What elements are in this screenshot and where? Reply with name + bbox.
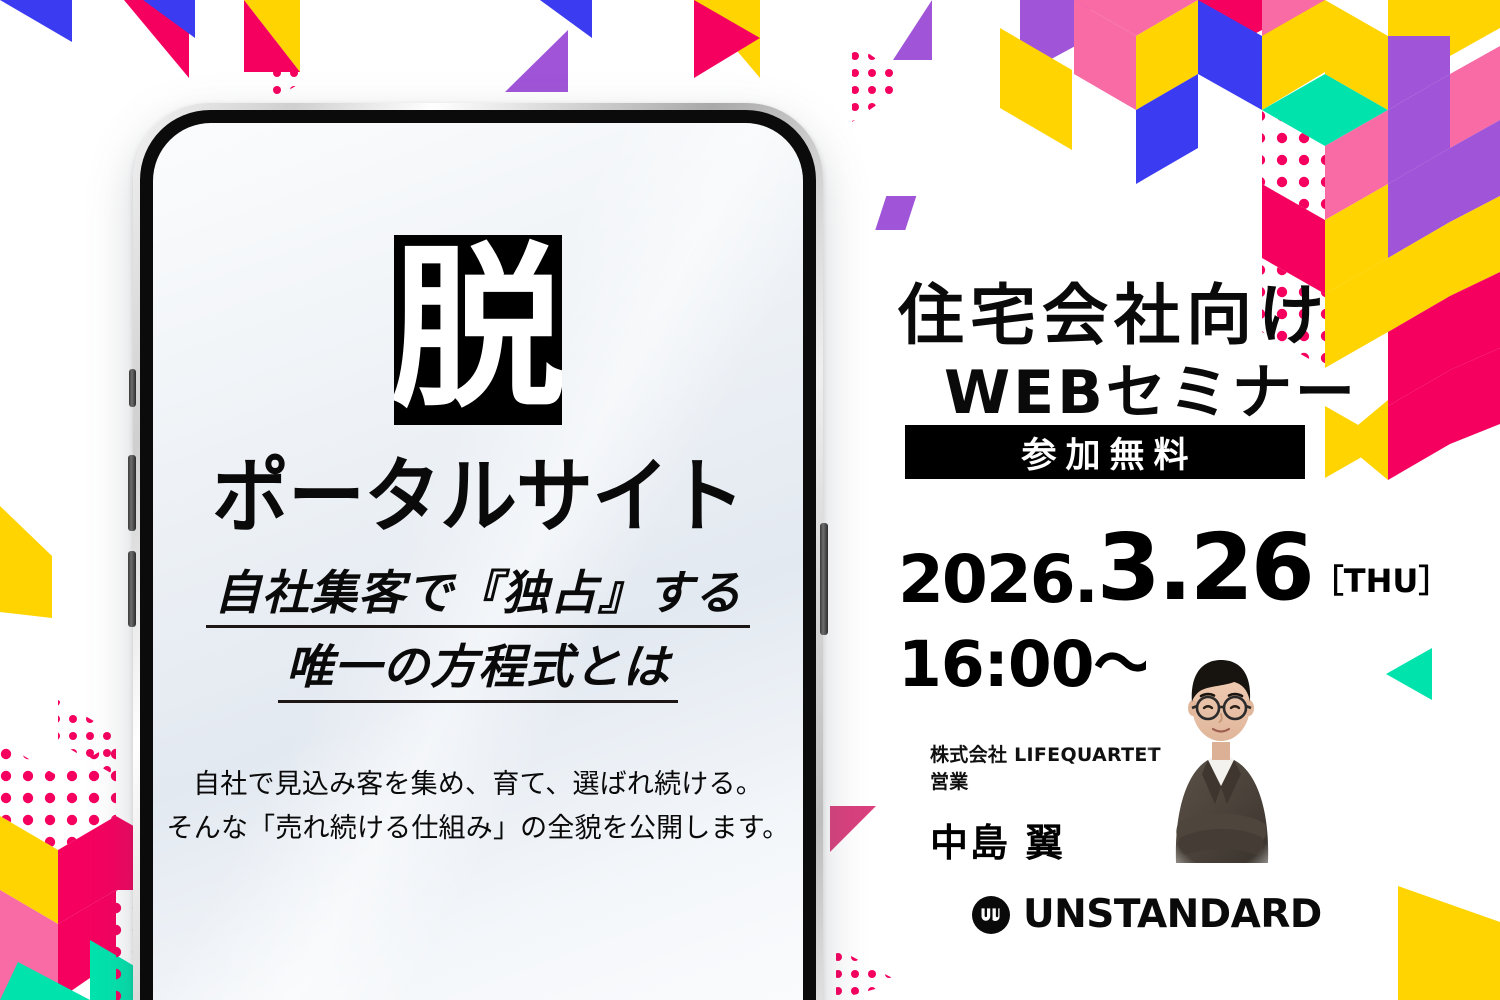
phone-volume-up-button <box>128 455 136 531</box>
headline-kanji-box: 脱 <box>394 235 562 425</box>
free-admission-badge: 参加無料 <box>905 425 1305 479</box>
event-type-heading: WEBセミナー <box>944 344 1358 431</box>
speaker-info: 株式会社 LIFEQUARTET 営業 中島 翼 <box>930 742 1161 867</box>
phone-volume-down-button <box>128 551 136 627</box>
headline-main: ポータルサイト <box>212 457 744 539</box>
body-copy-line-2: そんな「売れ続ける仕組み」の全貌を公開します。 <box>167 807 790 851</box>
unstandard-circle-mark <box>972 896 1010 934</box>
deco-triangle-yellow-left-2 <box>0 506 52 618</box>
speaker-company: 株式会社 LIFEQUARTET <box>930 742 1161 769</box>
event-date-day-of-week: ［THU］ <box>1312 565 1451 609</box>
subheadline-line-1: 自社集客で『独占』する <box>206 566 750 628</box>
phone-screen: 脱 ポータルサイト 自社集客で『独占』する 唯一の方程式とは 自社で見込み客を集… <box>153 123 803 1000</box>
deco-triangle-purple-1 <box>505 30 568 92</box>
subheadline-line-2: 唯一の方程式とは <box>278 640 678 702</box>
brand-logo: UNSTANDARD <box>972 892 1322 937</box>
deco-triangle-pink-right-of-phone <box>830 806 876 852</box>
phone-mockup: 脱 ポータルサイト 自社集客で『独占』する 唯一の方程式とは 自社で見込み客を集… <box>133 103 823 1000</box>
speaker-department: 営業 <box>930 769 1161 796</box>
banner-canvas: 脱 ポータルサイト 自社集客で『独占』する 唯一の方程式とは 自社で見込み客を集… <box>0 0 1500 1000</box>
phone-power-button <box>820 523 828 635</box>
brand-name: UNSTANDARD <box>1023 892 1322 937</box>
event-time: 16:00〜 <box>898 614 1156 705</box>
event-date: 2026. 3.26 ［THU］ <box>898 528 1450 609</box>
phone-screen-content: 脱 ポータルサイト 自社集客で『独占』する 唯一の方程式とは 自社で見込み客を集… <box>153 123 803 1000</box>
speaker-portrait <box>1146 628 1296 863</box>
phone-bezel: 脱 ポータルサイト 自社集客で『独占』する 唯一の方程式とは 自社で見込み客を集… <box>140 110 816 1000</box>
body-copy-line-1: 自社で見込み客を集め、育て、選ばれ続ける。 <box>167 763 790 807</box>
body-copy: 自社で見込み客を集め、育て、選ばれ続ける。 そんな「売れ続ける仕組み」の全貌を公… <box>167 763 790 850</box>
phone-silent-switch <box>129 369 136 407</box>
event-date-year: 2026. <box>898 551 1097 609</box>
event-date-month-day: 3.26 <box>1097 528 1312 609</box>
deco-triangle-blue-tl <box>0 0 72 42</box>
speaker-name: 中島 翼 <box>930 812 1161 867</box>
